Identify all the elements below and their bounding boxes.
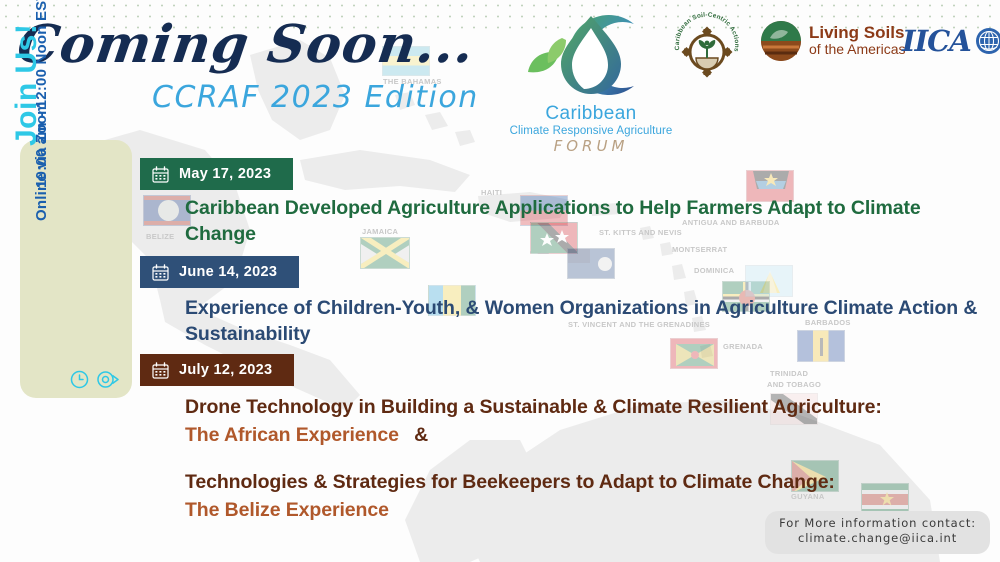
event-platform-text: Online via Zoom	[33, 101, 50, 221]
event-3-date: July 12, 2023	[179, 362, 272, 378]
living-soils-line1: Living Soils	[809, 24, 906, 42]
event-2-date: June 14, 2023	[179, 264, 277, 280]
iica-logo: IICA	[902, 24, 1000, 58]
event-2-title: Experience of Children-Youth, & Women Or…	[185, 296, 990, 347]
event-1-date-banner: May 17, 2023	[140, 158, 293, 190]
poster-canvas: THE BAHAMASBELIZEJAMAICAHAITIST. KITTS A…	[0, 0, 1000, 562]
gear-seedling-logo: Caribbean Soil-Centric Actions	[668, 10, 746, 82]
event-3-date-banner: July 12, 2023	[140, 354, 294, 386]
living-soils-line2: of the Americas	[809, 42, 906, 57]
csca-logo: Caribbean Soil-Centric Actions	[668, 10, 746, 82]
ccraf-name-line3: FORUM	[506, 137, 676, 155]
contact-box: For More information contact: climate.ch…	[765, 511, 990, 554]
globe-icon	[975, 27, 1000, 55]
contact-line-1: For More information contact:	[779, 516, 976, 532]
ccraf-name-line2: Climate Responsive Agriculture	[506, 125, 676, 137]
contact-line-2[interactable]: climate.change@iica.int	[779, 531, 976, 547]
event-1-title: Caribbean Developed Agriculture Applicat…	[185, 196, 990, 247]
soil-globe-logo	[760, 20, 802, 62]
edition-subtitle: CCRAF 2023 Edition	[152, 80, 479, 115]
webcam-icon	[97, 370, 119, 389]
event-3-conjunction: &	[414, 424, 428, 446]
living-soils-logo: Living Soils of the Americas	[760, 20, 906, 62]
event-3-subtitle-a: The African Experience	[185, 424, 399, 446]
event-3-title-b: Technologies & Strategies for Beekeepers…	[185, 470, 882, 496]
event-item-1: May 17, 2023 Caribbean Developed Agricul…	[140, 158, 990, 247]
calendar-icon	[152, 166, 169, 183]
event-item-2: June 14, 2023 Experience of Children-You…	[140, 256, 990, 347]
calendar-icon	[152, 362, 169, 379]
logo-row: Caribbean Climate Responsive Agriculture…	[498, 6, 998, 146]
event-3-subtitle-a-row: The African Experience &	[185, 423, 882, 449]
clock-icon	[70, 370, 89, 389]
event-3-title-a: Drone Technology in Building a Sustainab…	[185, 395, 882, 421]
join-us-panel: Join Us! 10:00 am - 12:00 Noon EST Onlin…	[20, 140, 132, 398]
event-2-date-banner: June 14, 2023	[140, 256, 299, 288]
event-item-3: July 12, 2023 Drone Technology in Buildi…	[140, 354, 882, 524]
ccraf-name-line1: Caribbean	[506, 103, 676, 125]
iica-wordmark: IICA	[902, 24, 971, 58]
ccraf-logo: Caribbean Climate Responsive Agriculture…	[506, 8, 676, 155]
coming-soon-title: Coming Soon...	[14, 14, 479, 75]
event-1-date: May 17, 2023	[179, 166, 271, 182]
calendar-icon	[152, 264, 169, 281]
water-droplet-leaf-logo	[506, 8, 676, 100]
